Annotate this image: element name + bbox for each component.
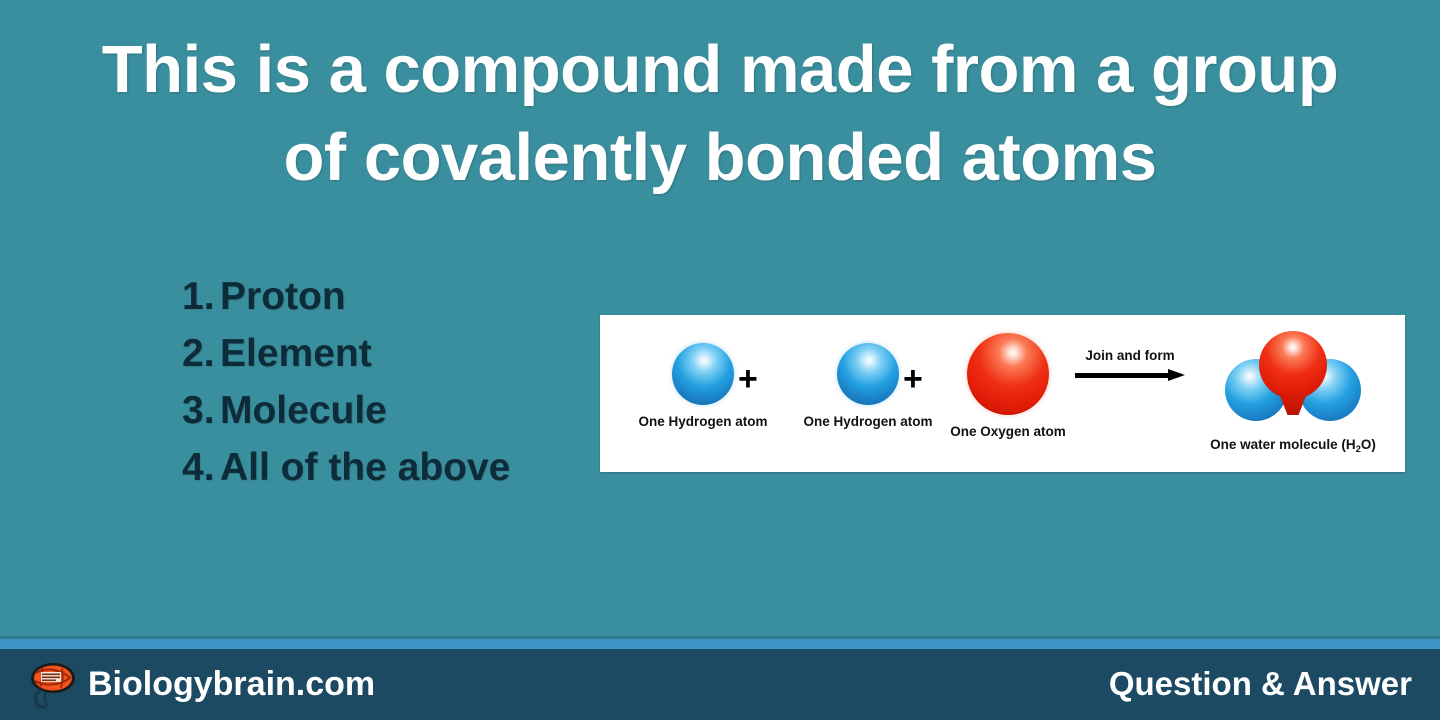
water-label-suffix: O) (1361, 437, 1376, 452)
water-label-prefix: One water molecule (H (1210, 437, 1356, 452)
brand-group[interactable]: Biologybrain.com (26, 659, 375, 709)
page-title: This is a compound made from a group of … (70, 26, 1370, 202)
footer-inner: Biologybrain.com Question & Answer (0, 649, 1440, 720)
option-item-1[interactable]: 1.Proton (182, 268, 612, 325)
arrow-right-icon (1075, 372, 1185, 379)
brain-logo-icon (26, 659, 78, 709)
option-item-4[interactable]: 4.All of the above (182, 439, 612, 496)
water-label-subscript: 2 (1356, 444, 1361, 455)
footer-bar: Biologybrain.com Question & Answer (0, 649, 1440, 720)
reaction-arrow-group: Join and form (1065, 348, 1195, 379)
diagram-inner: One Hydrogen atom + One Hydrogen atom + … (600, 315, 1405, 472)
water-molecule-label: One water molecule (H2O) (1188, 437, 1398, 452)
answer-options-list: 1.Proton 2.Element 3.Molecule 4.All of t… (182, 268, 612, 496)
plus-icon-1: + (738, 362, 758, 396)
option-label-3: Molecule (220, 389, 387, 432)
water-molecule-icon (1218, 323, 1368, 428)
option-label-2: Element (220, 332, 372, 375)
hydrogen-sphere-icon (837, 343, 899, 405)
oxygen-sphere-icon (967, 333, 1049, 415)
oxygen-atom-label: One Oxygen atom (893, 424, 1123, 439)
option-number-3: 3. (182, 382, 220, 439)
option-number-4: 4. (182, 439, 220, 496)
footer-right-label: Question & Answer (1109, 661, 1412, 707)
slide-root: This is a compound made from a group of … (0, 0, 1440, 720)
arrow-shaft-bar (1075, 373, 1169, 378)
water-formation-diagram: One Hydrogen atom + One Hydrogen atom + … (600, 315, 1405, 472)
option-item-3[interactable]: 3.Molecule (182, 382, 612, 439)
hydrogen-sphere-icon (672, 343, 734, 405)
reaction-arrow-label: Join and form (1065, 348, 1195, 363)
hydrogen-atom-1-label: One Hydrogen atom (633, 414, 773, 429)
option-number-1: 1. (182, 268, 220, 325)
footer-accent-strip (0, 639, 1440, 649)
option-label-1: Proton (220, 275, 346, 318)
option-number-2: 2. (182, 325, 220, 382)
brand-name-label: Biologybrain.com (88, 660, 375, 708)
water-molecule-group: One water molecule (H2O) (1188, 323, 1398, 452)
water-oxygen-sphere (1259, 331, 1327, 399)
option-label-4: All of the above (220, 446, 510, 489)
arrow-head (1168, 369, 1185, 381)
option-item-2[interactable]: 2.Element (182, 325, 612, 382)
